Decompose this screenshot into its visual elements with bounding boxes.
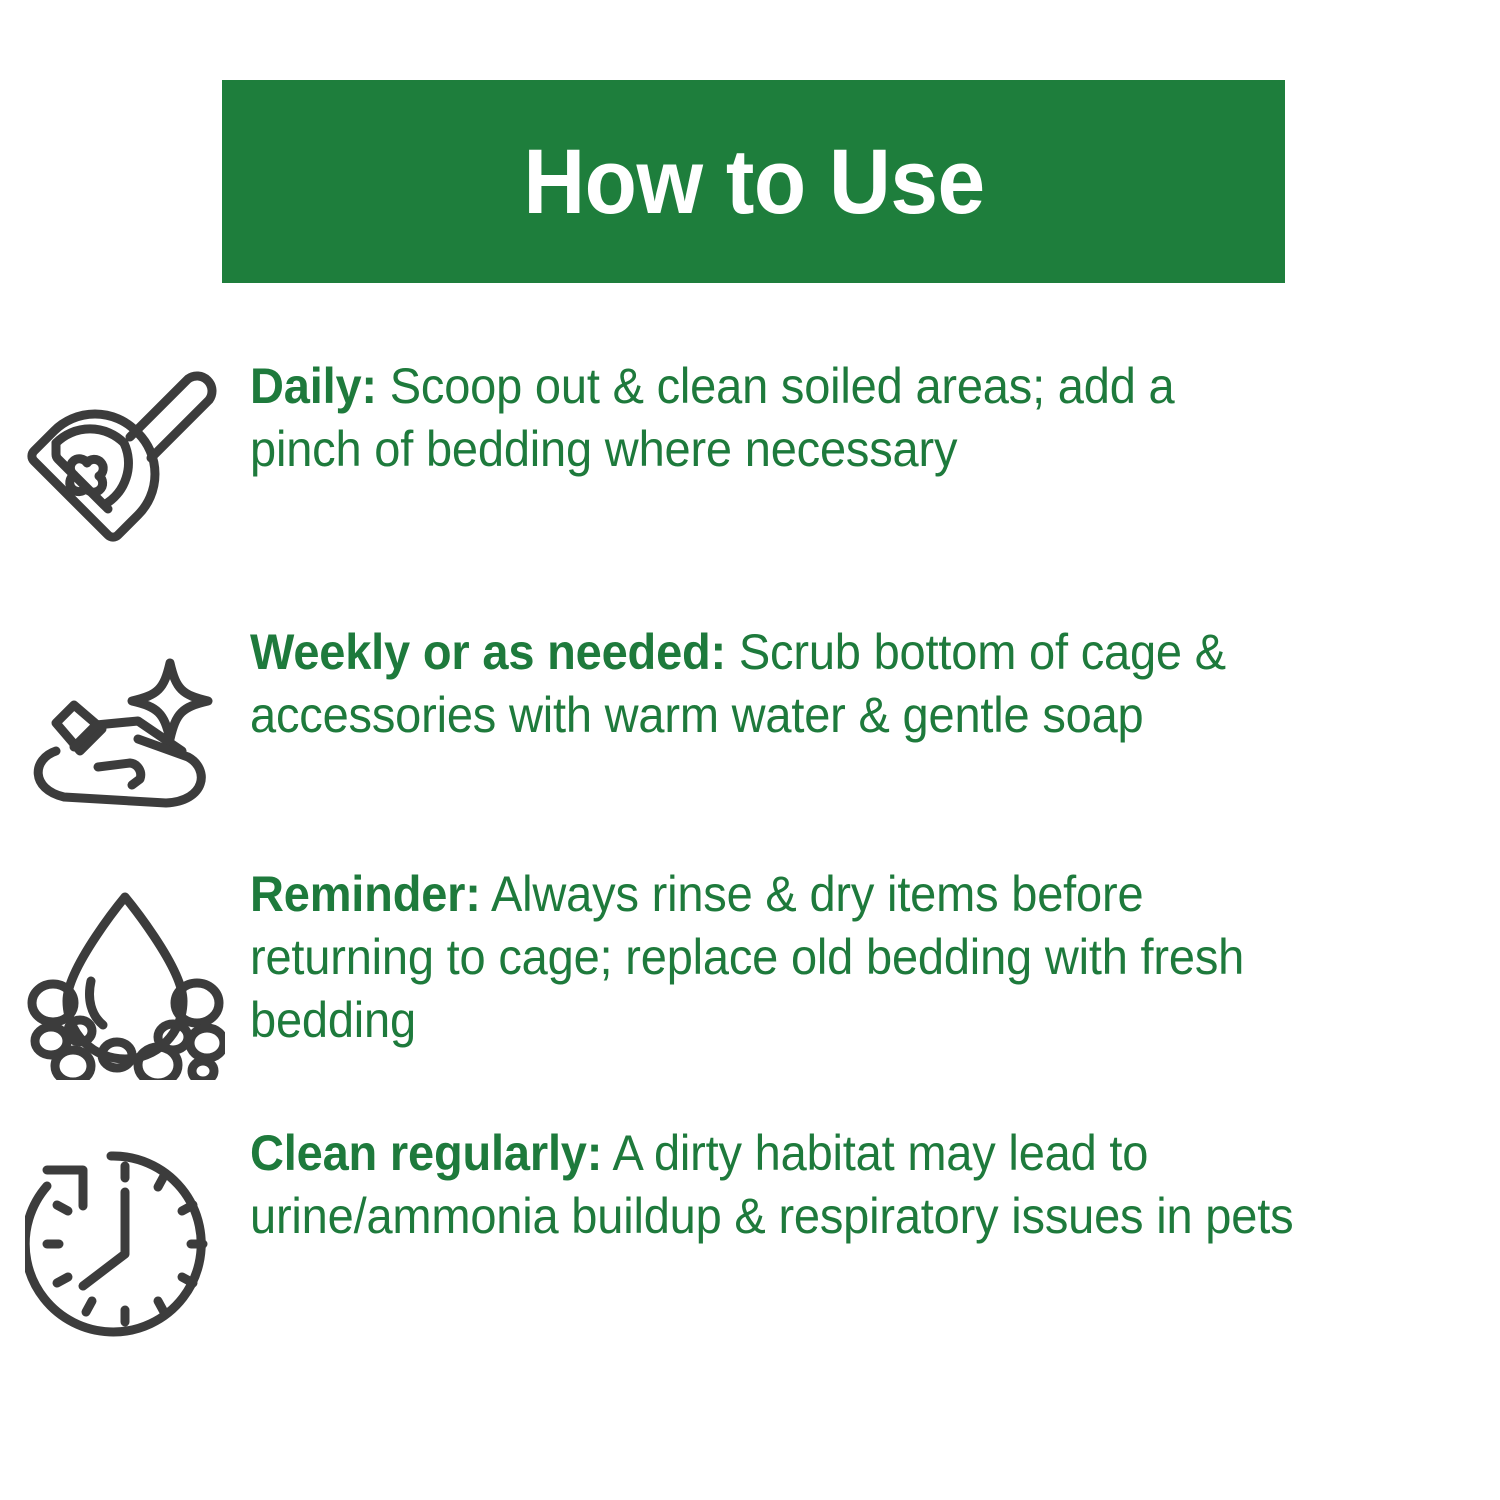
step-row: Clean regularly: A dirty habitat may lea… xyxy=(0,1122,1500,1339)
hand-wiping-sparkle-icon xyxy=(0,621,250,825)
step-lead: Weekly or as needed: xyxy=(250,624,726,680)
scoop-icon xyxy=(0,355,250,559)
step-row: Weekly or as needed: Scrub bottom of cag… xyxy=(0,621,1500,825)
step-text: Reminder: Always rinse & dry items befor… xyxy=(250,863,1340,1052)
step-text: Weekly or as needed: Scrub bottom of cag… xyxy=(250,621,1340,747)
clock-arrow-icon xyxy=(0,1122,250,1339)
step-body: Scoop out & clean soiled areas; add a pi… xyxy=(250,358,1174,477)
page-title: How to Use xyxy=(523,136,984,228)
steps-list: Daily: Scoop out & clean soiled areas; a… xyxy=(0,355,1500,1339)
step-lead: Reminder: xyxy=(250,866,481,922)
step-row: Reminder: Always rinse & dry items befor… xyxy=(0,863,1500,1080)
step-lead: Daily: xyxy=(250,358,377,414)
infographic-page: How to Use Daily: Scoo xyxy=(0,0,1500,1500)
water-droplet-bubbles-icon xyxy=(0,863,250,1080)
step-text: Clean regularly: A dirty habitat may lea… xyxy=(250,1122,1340,1248)
step-row: Daily: Scoop out & clean soiled areas; a… xyxy=(0,355,1500,559)
step-lead: Clean regularly: xyxy=(250,1125,602,1181)
header-banner: How to Use xyxy=(222,80,1285,283)
step-text: Daily: Scoop out & clean soiled areas; a… xyxy=(250,355,1340,481)
